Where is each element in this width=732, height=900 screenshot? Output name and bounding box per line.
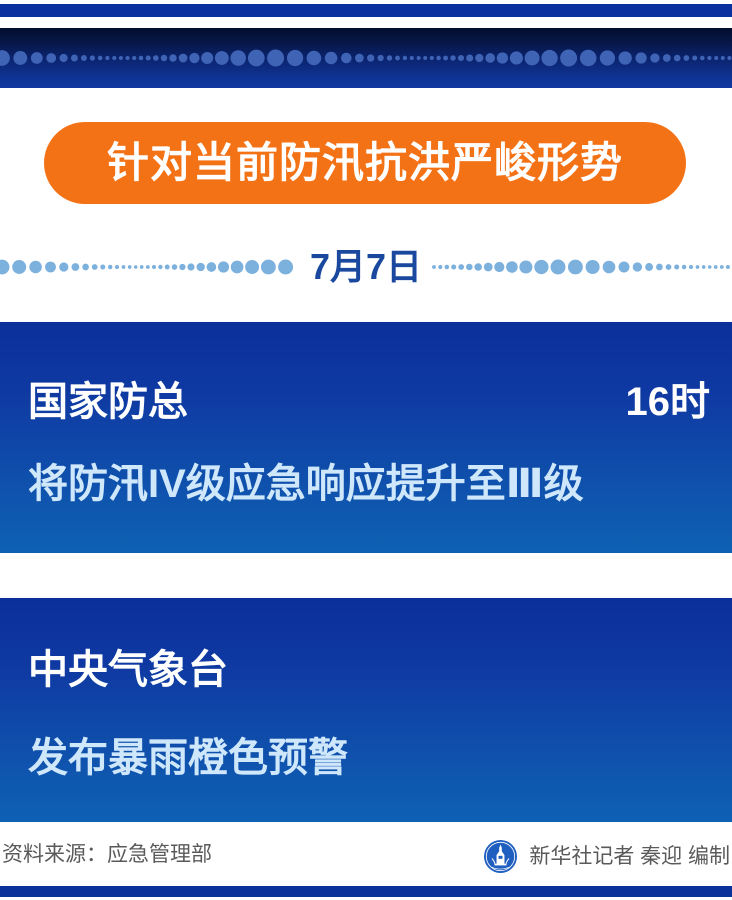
top-banner [0,28,732,88]
panel-1-time: 16时 [626,382,711,422]
headline-pill-container: 针对当前防汛抗洪严峻形势 [0,112,732,222]
headline-pill: 针对当前防汛抗洪严峻形势 [44,122,686,204]
footer: 资料来源：应急管理部 新华社记者 秦迎 编制 [0,832,732,880]
top-accent-rule [0,4,732,17]
panel-1-action: 将防汛IV级应急响应提升至Ⅲ级 [28,464,584,504]
panel-2-organization: 中央气象台 [28,650,228,690]
xinhua-logo-icon [484,840,517,873]
panel-1-organization: 国家防总 [28,382,188,422]
date-divider: 7月7日 [0,238,732,296]
panel-1-header-row: 国家防总 16时 [28,382,710,422]
banner-dot-pattern [0,28,732,88]
panel-1-action-row: 将防汛IV级应急响应提升至Ⅲ级 [28,464,710,504]
panel-2-action: 发布暴雨橙色预警 [28,738,348,778]
date-label: 7月7日 [300,238,432,296]
info-panel-central-meteorological-observatory: 中央气象台 发布暴雨橙色预警 [0,598,732,822]
panel-2-action-row: 发布暴雨橙色预警 [28,738,710,778]
info-panel-national-flood-control: 国家防总 16时 将防汛IV级应急响应提升至Ⅲ级 [0,322,732,553]
footer-credit: 新华社记者 秦迎 编制 [484,840,730,873]
footer-credit-text: 新华社记者 秦迎 编制 [529,842,730,872]
footer-source-text: 资料来源：应急管理部 [2,840,212,870]
headline-pill-text: 针对当前防汛抗洪严峻形势 [107,142,623,184]
bottom-accent-rule [0,886,732,897]
date-dots-right [432,238,732,296]
panel-2-header-row: 中央气象台 [28,650,710,690]
date-dots-left [0,238,300,296]
